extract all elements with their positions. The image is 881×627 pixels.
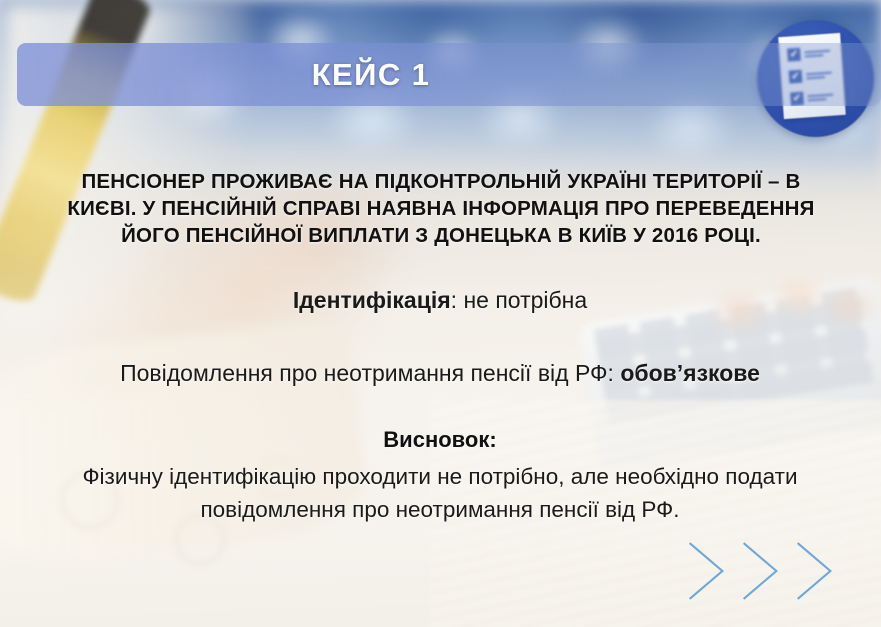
chevron-right-icon	[734, 538, 786, 604]
conclusion-title: Висновок:	[40, 427, 840, 453]
page-title: КЕЙС 1	[17, 43, 725, 106]
notification-label: Повідомлення про неотримання пенсії від …	[120, 360, 620, 386]
identification-label: Ідентифікація	[293, 287, 451, 313]
case-headline: ПЕНСІОНЕР ПРОЖИВАЄ НА ПІДКОНТРОЛЬНІЙ УКР…	[46, 168, 836, 249]
case-slide: ✔ ✔ ✔ КЕЙС 1 ПЕНСІОНЕР ПРОЖИВАЄ Н	[0, 0, 881, 627]
chevron-right-icon	[788, 538, 840, 604]
identification-separator: :	[451, 287, 464, 313]
identification-line: Ідентифікація: не потрібна	[40, 285, 840, 315]
identification-value: не потрібна	[463, 287, 587, 313]
notification-line: Повідомлення про неотримання пенсії від …	[40, 358, 840, 388]
conclusion-body: Фізичну ідентифікацію проходити не потрі…	[60, 460, 820, 526]
notification-value: обов’язкове	[620, 360, 760, 386]
chevron-right-icon	[680, 538, 732, 604]
chevron-decoration	[680, 538, 840, 604]
